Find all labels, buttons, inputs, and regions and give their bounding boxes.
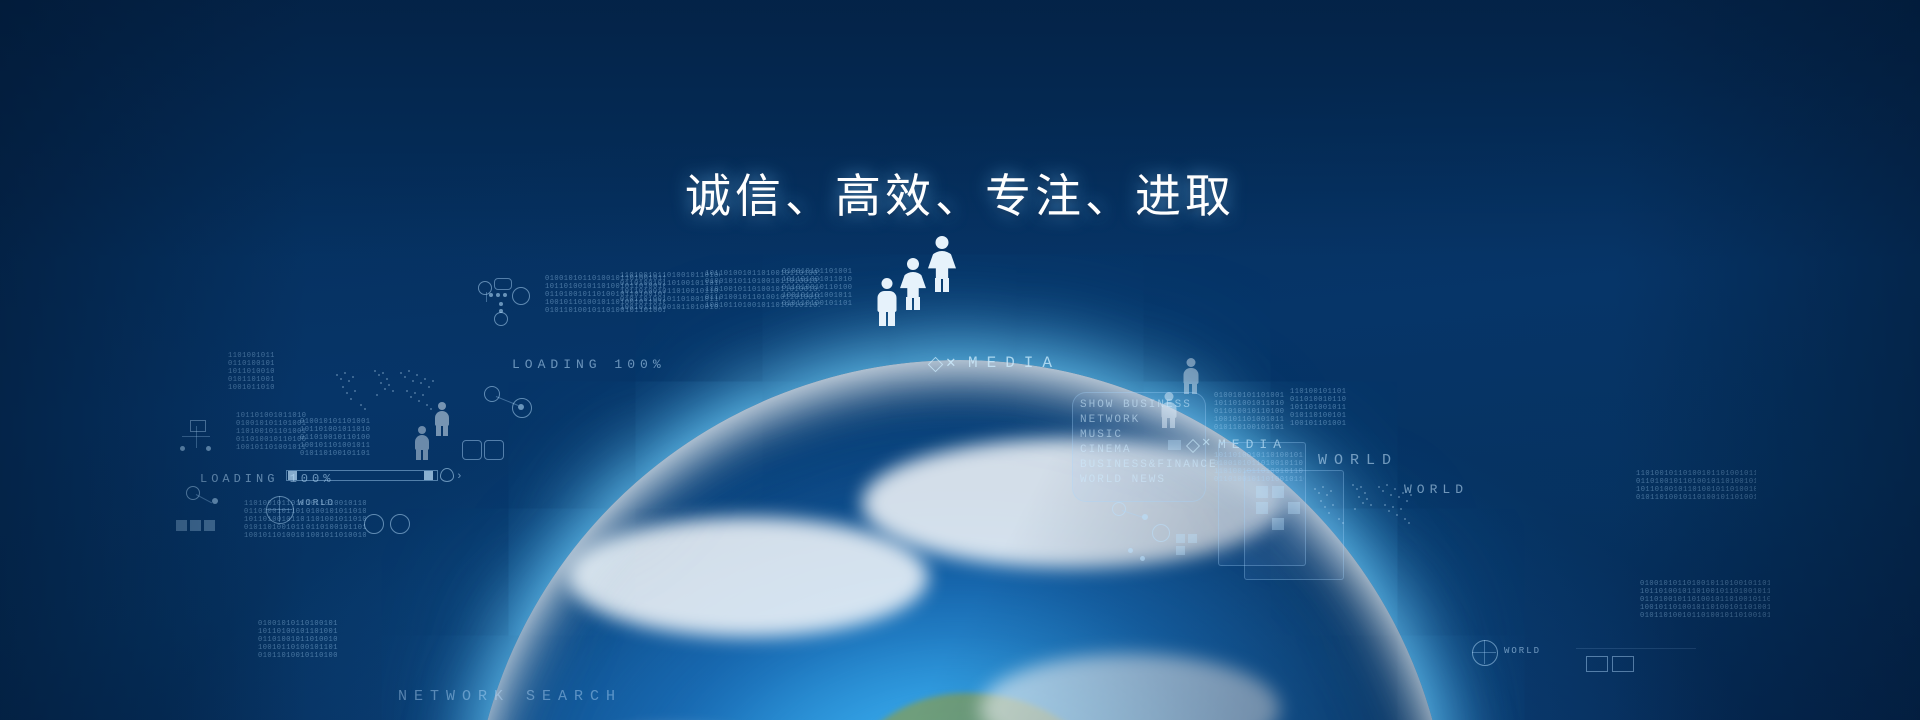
menu-item-music[interactable]: MUSIC [1080, 428, 1218, 443]
progress-next-label: › [456, 471, 467, 483]
person-figure-1 [876, 278, 898, 326]
right-node-ring-1 [1112, 502, 1126, 516]
person-body-icon [1184, 368, 1199, 384]
right-node-chip-1 [1176, 534, 1185, 543]
world-small-label-2: WORLD [1504, 646, 1541, 656]
binary-block-right-2: 11010010110100101101001011010 0110100101… [1290, 388, 1346, 440]
right-node-chip-3 [1176, 546, 1185, 555]
node-dot-1 [489, 293, 493, 297]
person-leg-left [436, 425, 441, 436]
binary-block-right-4: 01001010110100101101001011010 1011010010… [1640, 580, 1770, 640]
binary-block-left-6: 01001010110100101101001011010 1011010010… [258, 620, 338, 680]
binary-block-left-3: 01001010110100101101001011010 1011010010… [300, 418, 370, 474]
right-node-ring-2 [1152, 524, 1170, 542]
person-body-icon [878, 291, 897, 312]
right-grid-line-1 [1576, 648, 1696, 649]
person-leg-left [935, 278, 941, 292]
menu-item-show-business[interactable]: SHOW BUSINESS [1080, 398, 1218, 413]
person-leg-right [914, 297, 920, 310]
menu-item-world-news[interactable]: WORLD NEWS [1080, 473, 1218, 488]
person-icon-right-2 [1182, 358, 1200, 394]
person-figure-2 [900, 258, 926, 310]
globe-wire-icon [266, 496, 294, 524]
progress-handle-right[interactable] [424, 471, 433, 480]
person-icon-left-2 [414, 426, 430, 460]
right-node-dot-3 [1140, 556, 1145, 561]
tree-dot-2 [206, 446, 211, 451]
world-map-left [330, 360, 450, 420]
person-leg-right [443, 425, 448, 436]
left-link-ring-1 [186, 486, 200, 500]
person-head-icon [438, 402, 446, 410]
hero-banner: 诚信、高效、专注、进取 0100101011010010110100101101… [0, 0, 1920, 720]
world-label-1: WORLD [1318, 452, 1398, 469]
right-panel-cell-2 [1272, 486, 1284, 498]
page-title: 诚信、高效、专注、进取 [0, 160, 1920, 226]
person-leg-right [888, 311, 895, 326]
node-dot-3 [503, 293, 507, 297]
right-node-dot-2 [1128, 548, 1133, 553]
node-dot-2 [496, 293, 500, 297]
tree-line-horiz [182, 436, 210, 437]
tree-node-box [190, 420, 206, 432]
person-head-icon [907, 258, 919, 270]
media-x-icon: ✕ [946, 355, 962, 371]
hud-chip-3 [204, 520, 215, 531]
binary-block-4: 01001010110100101101001011010 1011010010… [782, 268, 852, 312]
hud-chip-2 [190, 520, 201, 531]
person-leg-left [416, 449, 421, 460]
person-head-icon [1187, 358, 1196, 367]
person-body-icon [415, 435, 429, 450]
person-leg-right [943, 278, 949, 292]
person-body-icon [435, 411, 449, 426]
hud-search-icon [364, 514, 384, 534]
hud-chip-1 [176, 520, 187, 531]
person-body-icon [928, 251, 956, 279]
person-body-icon [900, 272, 926, 298]
person-head-icon [418, 426, 426, 434]
person-leg-left [906, 297, 912, 310]
progress-handle-left[interactable] [288, 471, 297, 480]
person-leg-left [879, 311, 886, 326]
link-dot-1 [518, 404, 524, 410]
left-link-dot-1 [212, 498, 218, 504]
node-ring-3 [494, 312, 508, 326]
hud-icon-box-1 [462, 440, 482, 460]
tree-dot-1 [180, 446, 185, 451]
media-right-x-icon: ✕ [1202, 436, 1216, 450]
right-panel-cell-3 [1256, 502, 1268, 514]
person-head-icon [882, 278, 893, 289]
binary-block-right-5: 11010010110100101101001011010 0110100101… [1636, 470, 1756, 500]
right-panel-cell-1 [1256, 486, 1268, 498]
person-icon-left-1 [434, 402, 450, 436]
node-square-1 [494, 278, 512, 290]
binary-block-left-1: 11010010110100101101001011010 0110100101… [228, 352, 274, 406]
right-globe-wire-icon [1472, 640, 1498, 666]
media-top-label: MEDIA [968, 354, 1061, 372]
right-node-dot-1 [1142, 514, 1148, 520]
progress-eye-icon [440, 468, 454, 482]
node-ring-2 [512, 287, 530, 305]
link-node-ring-1 [484, 386, 500, 402]
right-panel-cell-5 [1272, 518, 1284, 530]
globe-wire-line-v [279, 496, 280, 522]
menu-item-business-finance[interactable]: BUSINESS&FINANCE [1080, 458, 1218, 473]
node-dot-4 [499, 302, 503, 306]
hud-icon-box-2 [484, 440, 504, 460]
person-figure-3 [928, 236, 956, 292]
binary-block-left-2: 10110100101101001011010010110 0100101011… [236, 412, 306, 468]
right-globe-line-v [1484, 640, 1485, 664]
right-grid-box-2 [1612, 656, 1634, 672]
node-line-1 [486, 292, 487, 302]
world-small-label-1: WORLD [298, 498, 335, 508]
loading-top-label: LOADING 100% [512, 357, 666, 372]
person-leg-right [423, 449, 428, 460]
person-head-icon [936, 236, 949, 249]
right-panel-cell-4 [1288, 502, 1300, 514]
left-link-line-1 [196, 494, 212, 503]
hud-refresh-icon [390, 514, 410, 534]
loading-progress-bar[interactable] [286, 470, 438, 481]
right-grid-box-1 [1586, 656, 1608, 672]
menu-item-network[interactable]: NETWORK [1080, 413, 1218, 428]
menu-screen-icon [1168, 440, 1181, 450]
network-search-label: NETWORK SEARCH [398, 688, 622, 705]
right-node-chip-2 [1188, 534, 1197, 543]
world-map-right [1306, 476, 1426, 532]
